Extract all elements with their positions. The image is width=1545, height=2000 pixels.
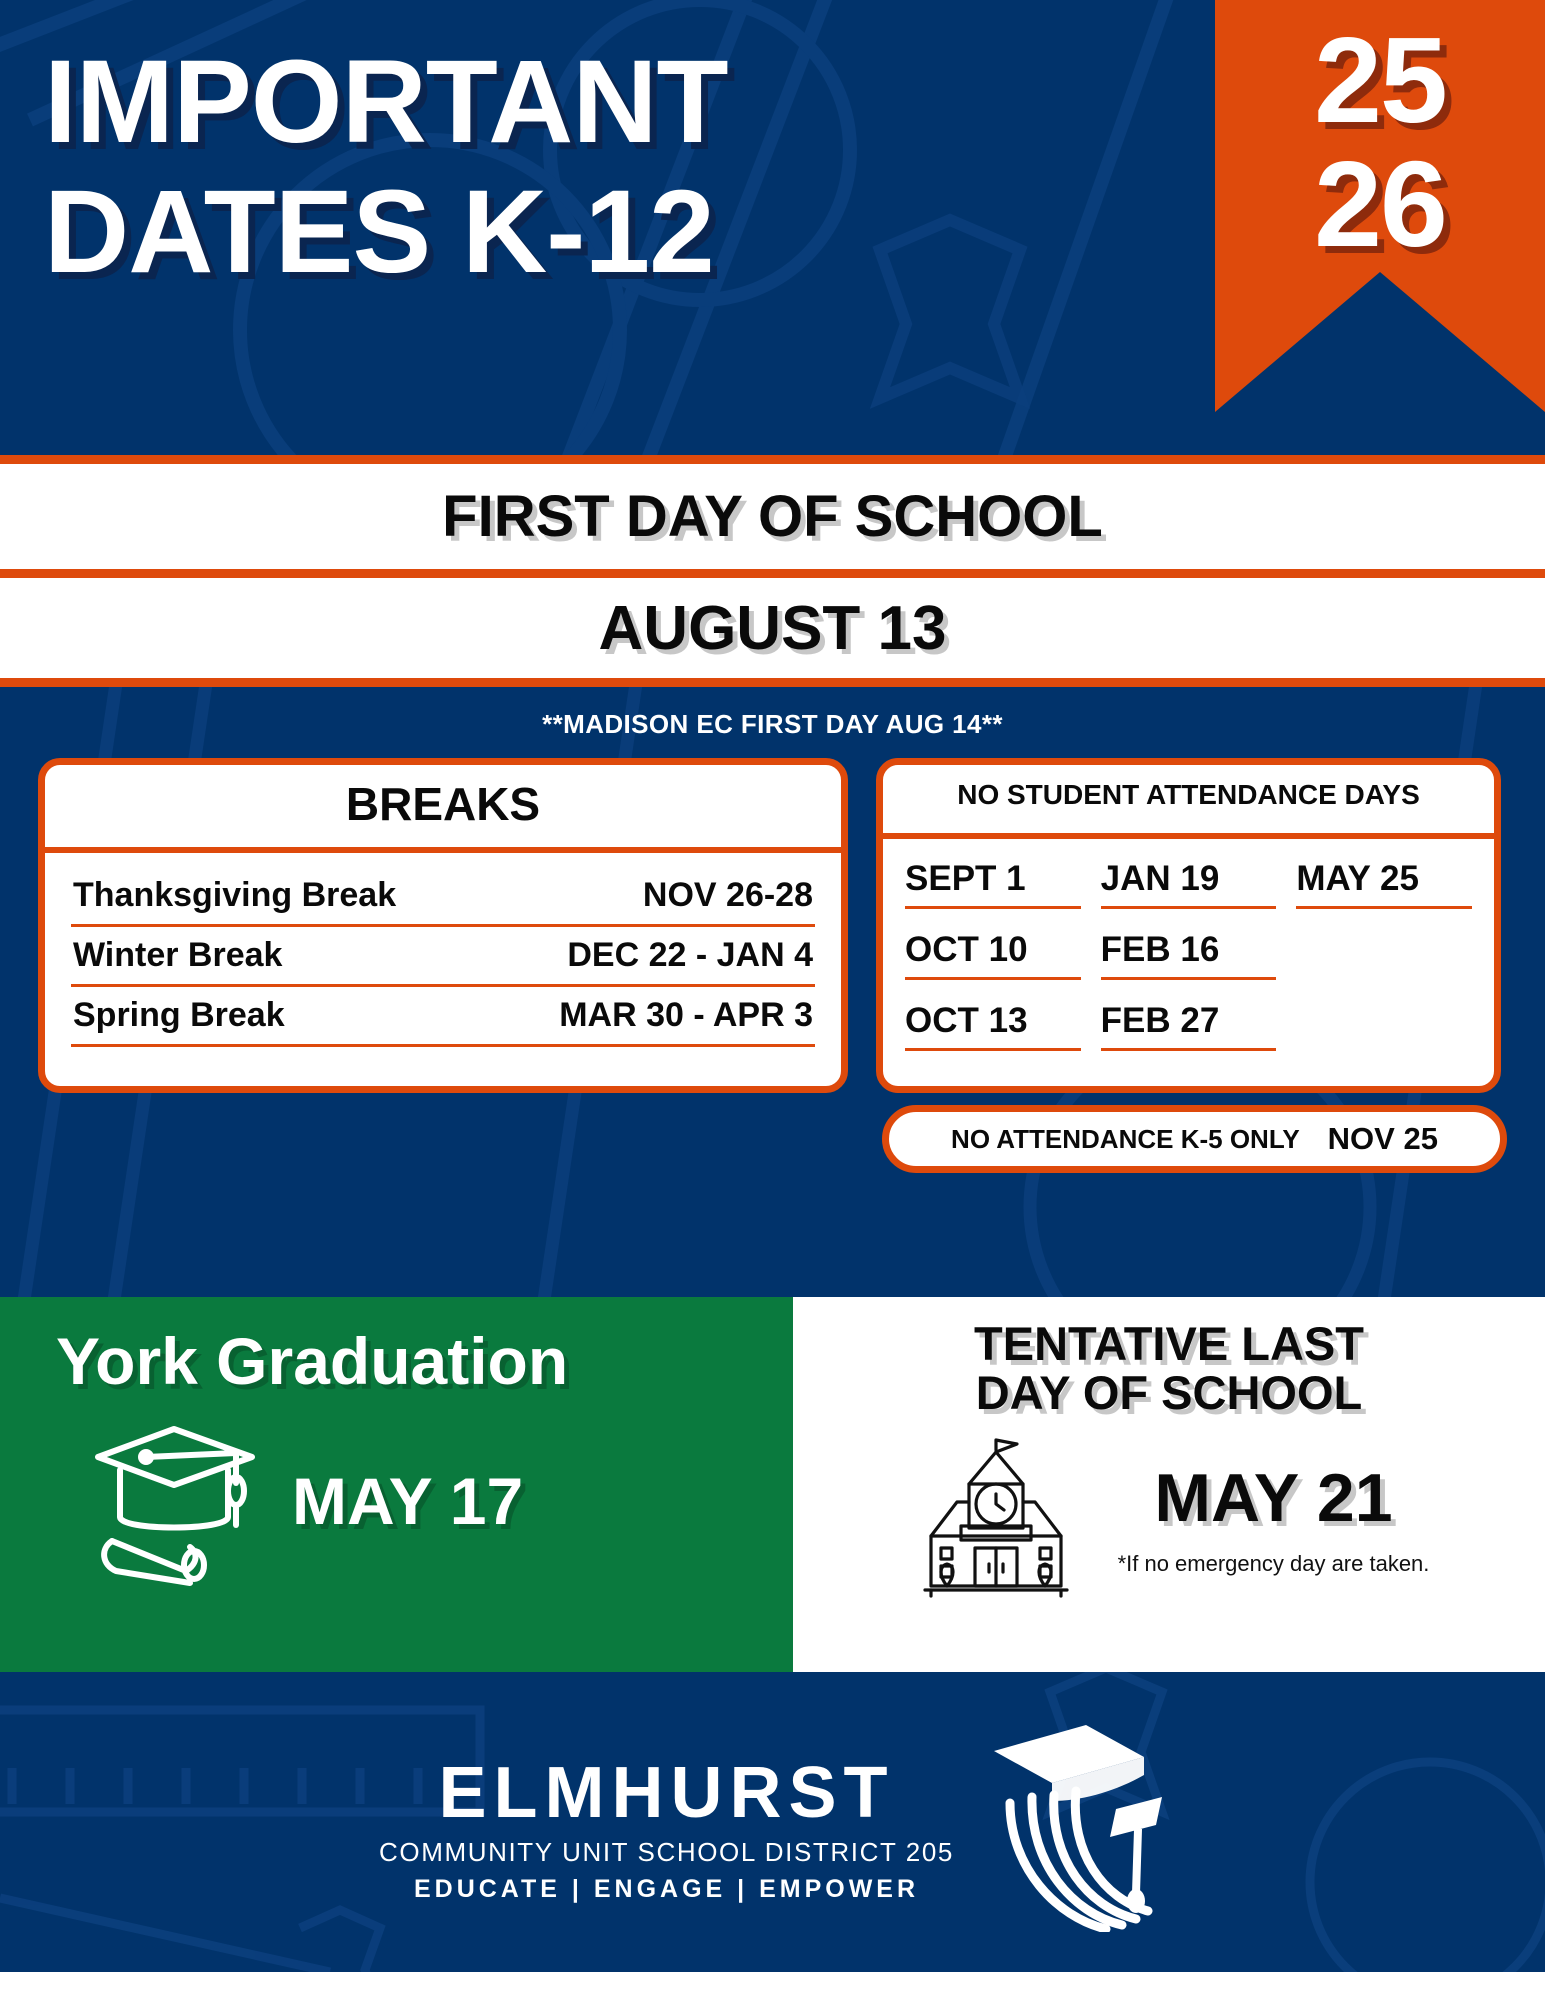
- last-day-row: MAY 21 *If no emergency day are taken.: [793, 1436, 1545, 1601]
- graduation-panel: York Graduation: [0, 1297, 793, 1672]
- graduation-cap-icon: [86, 1413, 266, 1588]
- flyer-page: IMPORTANT DATES K-12 25 26 FIRST DAY OF …: [0, 0, 1545, 2000]
- no-attendance-date: OCT 13: [905, 997, 1081, 1051]
- logo-name: ELMHURST: [439, 1757, 895, 1829]
- middle-section: **MADISON EC FIRST DAY AUG 14** BREAKS T…: [0, 687, 1545, 1297]
- break-name: Winter Break: [73, 936, 282, 975]
- k5-only-date: NOV 25: [1328, 1121, 1438, 1157]
- break-date: NOV 26-28: [643, 876, 813, 915]
- breaks-card: BREAKS Thanksgiving Break NOV 26-28 Wint…: [38, 758, 848, 1093]
- district-logo: ELMHURST COMMUNITY UNIT SCHOOL DISTRICT …: [0, 1672, 1545, 1972]
- k5-only-label: NO ATTENDANCE K-5 ONLY: [951, 1124, 1300, 1155]
- logo-subtitle: COMMUNITY UNIT SCHOOL DISTRICT 205: [379, 1837, 954, 1868]
- school-building-icon: [909, 1436, 1084, 1601]
- break-name: Thanksgiving Break: [73, 876, 396, 915]
- no-attendance-column: JAN 19 FEB 16 FEB 27: [1101, 855, 1277, 1068]
- break-row: Winter Break DEC 22 - JAN 4: [71, 927, 815, 987]
- divider-rule-top: [0, 455, 1545, 464]
- logo-tagline: EDUCATE | ENGAGE | EMPOWER: [414, 1875, 919, 1904]
- last-day-title: TENTATIVE LAST DAY OF SCHOOL: [793, 1319, 1545, 1418]
- graduation-title: York Graduation: [0, 1323, 793, 1399]
- school-year-ribbon: 25 26: [1215, 0, 1545, 412]
- no-attendance-date: SEPT 1: [905, 855, 1081, 909]
- last-day-panel: TENTATIVE LAST DAY OF SCHOOL: [793, 1297, 1545, 1672]
- no-attendance-heading: NO STUDENT ATTENDANCE DAYS: [883, 765, 1494, 839]
- breaks-body: Thanksgiving Break NOV 26-28 Winter Brea…: [45, 853, 841, 1073]
- k5-only-pill: NO ATTENDANCE K-5 ONLY NOV 25: [882, 1105, 1507, 1173]
- title-line-1: IMPORTANT: [44, 42, 1074, 162]
- divider-rule-mid: [0, 569, 1545, 578]
- first-day-date-band: AUGUST 13: [0, 578, 1545, 678]
- graduation-date: MAY 17: [292, 1463, 523, 1539]
- no-attendance-column: SEPT 1 OCT 10 OCT 13: [905, 855, 1081, 1068]
- page-title: IMPORTANT DATES K-12: [44, 42, 1074, 293]
- logo-text-block: ELMHURST COMMUNITY UNIT SCHOOL DISTRICT …: [379, 1757, 954, 1904]
- last-day-date: MAY 21: [1154, 1459, 1392, 1537]
- no-attendance-date: JAN 19: [1101, 855, 1277, 909]
- title-line-2: DATES K-12: [44, 172, 1074, 292]
- footer-section: ELMHURST COMMUNITY UNIT SCHOOL DISTRICT …: [0, 1672, 1545, 1972]
- no-attendance-date: FEB 16: [1101, 926, 1277, 980]
- last-day-note: *If no emergency day are taken.: [1118, 1551, 1430, 1577]
- graduation-row: MAY 17: [0, 1413, 793, 1588]
- no-attendance-body: SEPT 1 OCT 10 OCT 13 JAN 19 FEB 16 FEB 2…: [883, 839, 1494, 1086]
- header-section: IMPORTANT DATES K-12 25 26: [0, 0, 1545, 455]
- first-day-label: FIRST DAY OF SCHOOL: [442, 483, 1103, 550]
- breaks-heading: BREAKS: [45, 765, 841, 853]
- madison-ec-note: **MADISON EC FIRST DAY AUG 14**: [0, 687, 1545, 740]
- break-name: Spring Break: [73, 996, 285, 1035]
- grad-cap-swoosh-logo-icon: [966, 1717, 1166, 1937]
- break-date: MAR 30 - APR 3: [559, 996, 813, 1035]
- break-row: Thanksgiving Break NOV 26-28: [71, 867, 815, 927]
- no-attendance-date: FEB 27: [1101, 997, 1277, 1051]
- no-attendance-date: MAY 25: [1296, 855, 1472, 909]
- first-day-date: AUGUST 13: [599, 593, 947, 664]
- cards-row: BREAKS Thanksgiving Break NOV 26-28 Wint…: [0, 740, 1545, 1093]
- divider-rule-bottom: [0, 678, 1545, 687]
- last-day-title-line-1: TENTATIVE LAST: [974, 1317, 1364, 1370]
- no-attendance-grid: SEPT 1 OCT 10 OCT 13 JAN 19 FEB 16 FEB 2…: [905, 855, 1472, 1068]
- last-day-text-block: MAY 21 *If no emergency day are taken.: [1118, 1459, 1430, 1577]
- last-day-title-line-2: DAY OF SCHOOL: [976, 1366, 1363, 1419]
- break-date: DEC 22 - JAN 4: [567, 936, 813, 975]
- no-attendance-date-empty: [1296, 961, 1472, 979]
- no-attendance-date: OCT 10: [905, 926, 1081, 980]
- split-section: York Graduation: [0, 1297, 1545, 1672]
- no-student-attendance-card: NO STUDENT ATTENDANCE DAYS SEPT 1 OCT 10…: [876, 758, 1501, 1093]
- no-attendance-column: MAY 25: [1296, 855, 1472, 1068]
- first-day-label-band: FIRST DAY OF SCHOOL: [0, 464, 1545, 569]
- ribbon-shape-icon: [1215, 0, 1545, 412]
- break-row: Spring Break MAR 30 - APR 3: [71, 987, 815, 1047]
- no-attendance-date-empty: [1296, 926, 1472, 944]
